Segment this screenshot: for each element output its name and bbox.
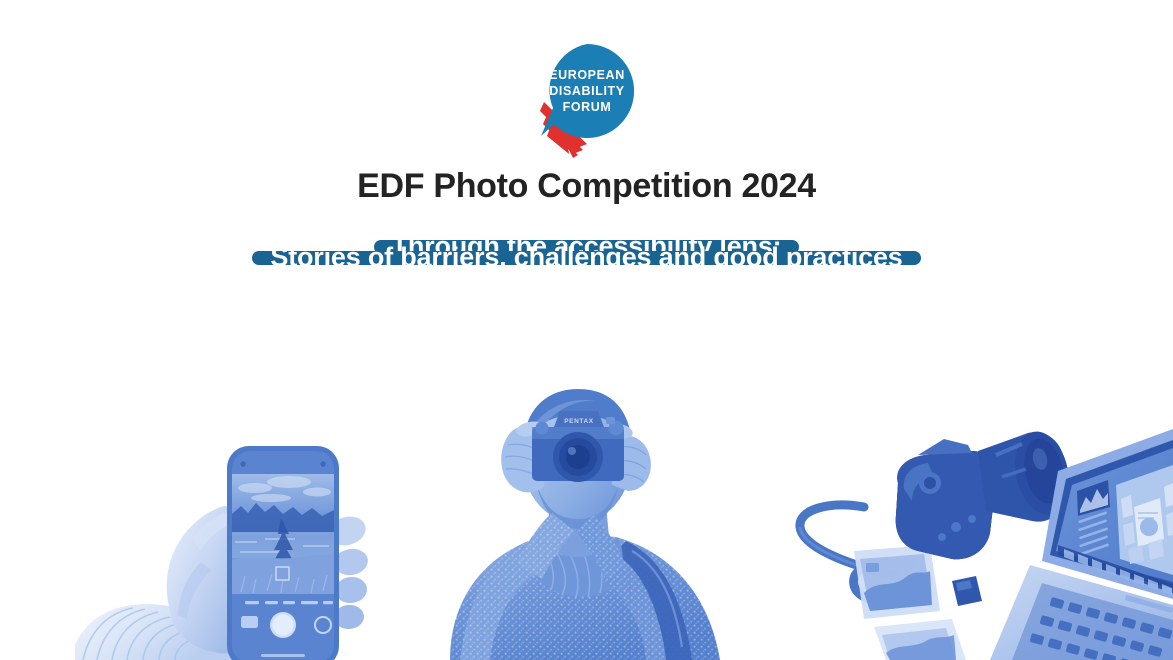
sensor-dot	[320, 461, 325, 466]
poster-canvas: EUROPEAN DISABILITY FORUM EDF Photo Comp…	[0, 0, 1173, 660]
smartphone-shape	[227, 446, 339, 660]
logo-line-1: EUROPEAN	[549, 68, 625, 82]
front-camera-dot	[240, 461, 245, 466]
photo-dslr-laptop-prints	[790, 415, 1173, 660]
sd-card	[952, 576, 982, 606]
subtitle-line-2: Stories of barriers, challenges and good…	[252, 251, 920, 265]
photo-hand-holding-smartphone	[75, 410, 455, 660]
photo-strip: PENTAX	[0, 355, 1173, 660]
subtitle-banner: Through the accessibility lens: Stories …	[0, 240, 1173, 266]
camera-brand-label: PENTAX	[564, 418, 594, 425]
rewind-knob	[536, 422, 549, 435]
home-indicator	[261, 654, 305, 657]
photo-prints	[854, 545, 966, 660]
european-disability-forum-logo: EUROPEAN DISABILITY FORUM	[517, 36, 657, 158]
logo-line-2: DISABILITY	[549, 84, 625, 98]
gallery-thumbnail	[241, 616, 258, 628]
logo-line-3: FORUM	[562, 100, 611, 114]
page-title: EDF Photo Competition 2024	[0, 166, 1173, 207]
photo-man-with-film-camera: PENTAX	[420, 365, 765, 660]
